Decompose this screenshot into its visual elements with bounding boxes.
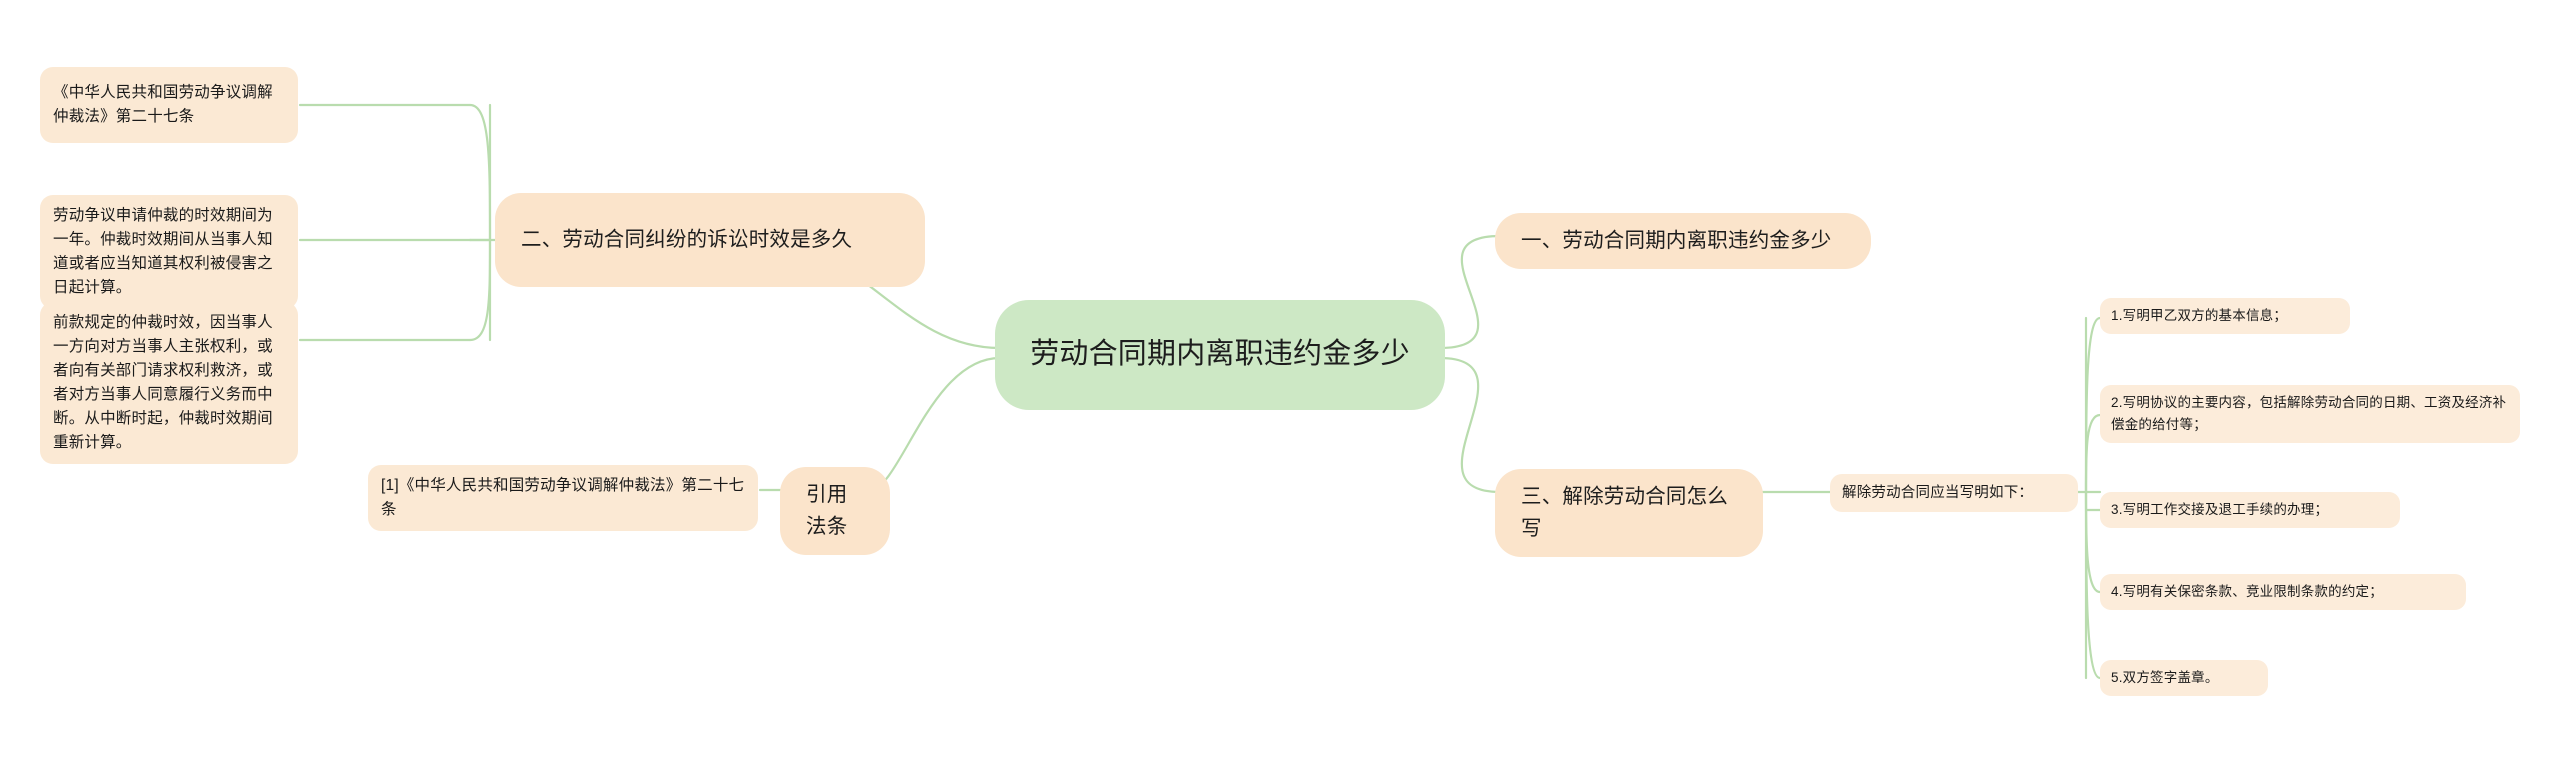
- right-leaf-node-5[interactable]: 5.双方签字盖章。: [2100, 660, 2268, 696]
- citation-leaf-node-1-label: [1]《中华人民共和国劳动争议调解仲裁法》第二十七条: [381, 474, 745, 522]
- link-left-child-3: [470, 240, 490, 340]
- right-leaf-node-1[interactable]: 1.写明甲乙双方的基本信息；: [2100, 298, 2350, 334]
- root-node-label: 劳动合同期内离职违约金多少: [1030, 333, 1410, 377]
- right-leaf-node-5-label: 5.双方签字盖章。: [2111, 667, 2219, 689]
- link-leaf-2: [2086, 415, 2100, 492]
- branch-node-right-penalty-amount-label: 一、劳动合同期内离职违约金多少: [1521, 225, 1832, 257]
- branch-node-left-label: 二、劳动合同纠纷的诉讼时效是多久: [521, 224, 852, 256]
- right-sub-node-intro-label: 解除劳动合同应当写明如下：: [1842, 482, 2033, 504]
- right-leaf-node-3-label: 3.写明工作交接及退工手续的办理；: [2111, 499, 2328, 521]
- mindmap-canvas: 劳动合同期内离职违约金多少 二、劳动合同纠纷的诉讼时效是多久 《中华人民共和国劳…: [0, 0, 2560, 760]
- root-node[interactable]: 劳动合同期内离职违约金多少: [995, 300, 1445, 410]
- branch-node-cited-statutes[interactable]: 引用法条: [780, 467, 890, 555]
- right-leaf-node-4[interactable]: 4.写明有关保密条款、竞业限制条款的约定；: [2100, 574, 2466, 610]
- left-child-node-1-label: 《中华人民共和国劳动争议调解仲裁法》第二十七条: [53, 81, 285, 129]
- link-leaf-5: [2086, 492, 2100, 678]
- link-root-to-right-branch-3: [1440, 358, 1500, 492]
- left-child-node-2[interactable]: 劳动争议申请仲裁的时效期间为一年。仲裁时效期间从当事人知道或者应当知道其权利被侵…: [40, 195, 298, 309]
- link-leaf-1: [2086, 318, 2100, 492]
- right-leaf-node-2[interactable]: 2.写明协议的主要内容，包括解除劳动合同的日期、工资及经济补偿金的给付等；: [2100, 385, 2520, 443]
- link-root-to-citation-branch: [870, 358, 1000, 490]
- branch-node-right-how-to-write[interactable]: 三、解除劳动合同怎么写: [1495, 469, 1763, 557]
- link-left-child-1: [470, 105, 490, 240]
- right-leaf-node-4-label: 4.写明有关保密条款、竞业限制条款的约定；: [2111, 581, 2383, 603]
- right-leaf-node-2-label: 2.写明协议的主要内容，包括解除劳动合同的日期、工资及经济补偿金的给付等；: [2111, 392, 2509, 435]
- branch-node-right-penalty-amount[interactable]: 一、劳动合同期内离职违约金多少: [1495, 213, 1871, 269]
- branch-node-right-how-to-write-label: 三、解除劳动合同怎么写: [1521, 481, 1737, 545]
- right-leaf-node-3[interactable]: 3.写明工作交接及退工手续的办理；: [2100, 492, 2400, 528]
- branch-node-left-statute-of-limitations[interactable]: 二、劳动合同纠纷的诉讼时效是多久: [495, 193, 925, 287]
- left-child-node-3-label: 前款规定的仲裁时效，因当事人一方向对方当事人主张权利，或者向有关部门请求权利救济…: [53, 311, 285, 455]
- left-child-node-3[interactable]: 前款规定的仲裁时效，因当事人一方向对方当事人主张权利，或者向有关部门请求权利救济…: [40, 302, 298, 464]
- link-root-to-right-branch-1: [1440, 236, 1500, 348]
- right-sub-node-intro[interactable]: 解除劳动合同应当写明如下：: [1830, 474, 2078, 512]
- link-leaf-4: [2086, 492, 2100, 592]
- branch-node-cited-statutes-label: 引用法条: [806, 479, 864, 543]
- left-child-node-1[interactable]: 《中华人民共和国劳动争议调解仲裁法》第二十七条: [40, 67, 298, 143]
- left-child-node-2-label: 劳动争议申请仲裁的时效期间为一年。仲裁时效期间从当事人知道或者应当知道其权利被侵…: [53, 204, 285, 300]
- right-leaf-node-1-label: 1.写明甲乙双方的基本信息；: [2111, 305, 2287, 327]
- citation-leaf-node-1[interactable]: [1]《中华人民共和国劳动争议调解仲裁法》第二十七条: [368, 465, 758, 531]
